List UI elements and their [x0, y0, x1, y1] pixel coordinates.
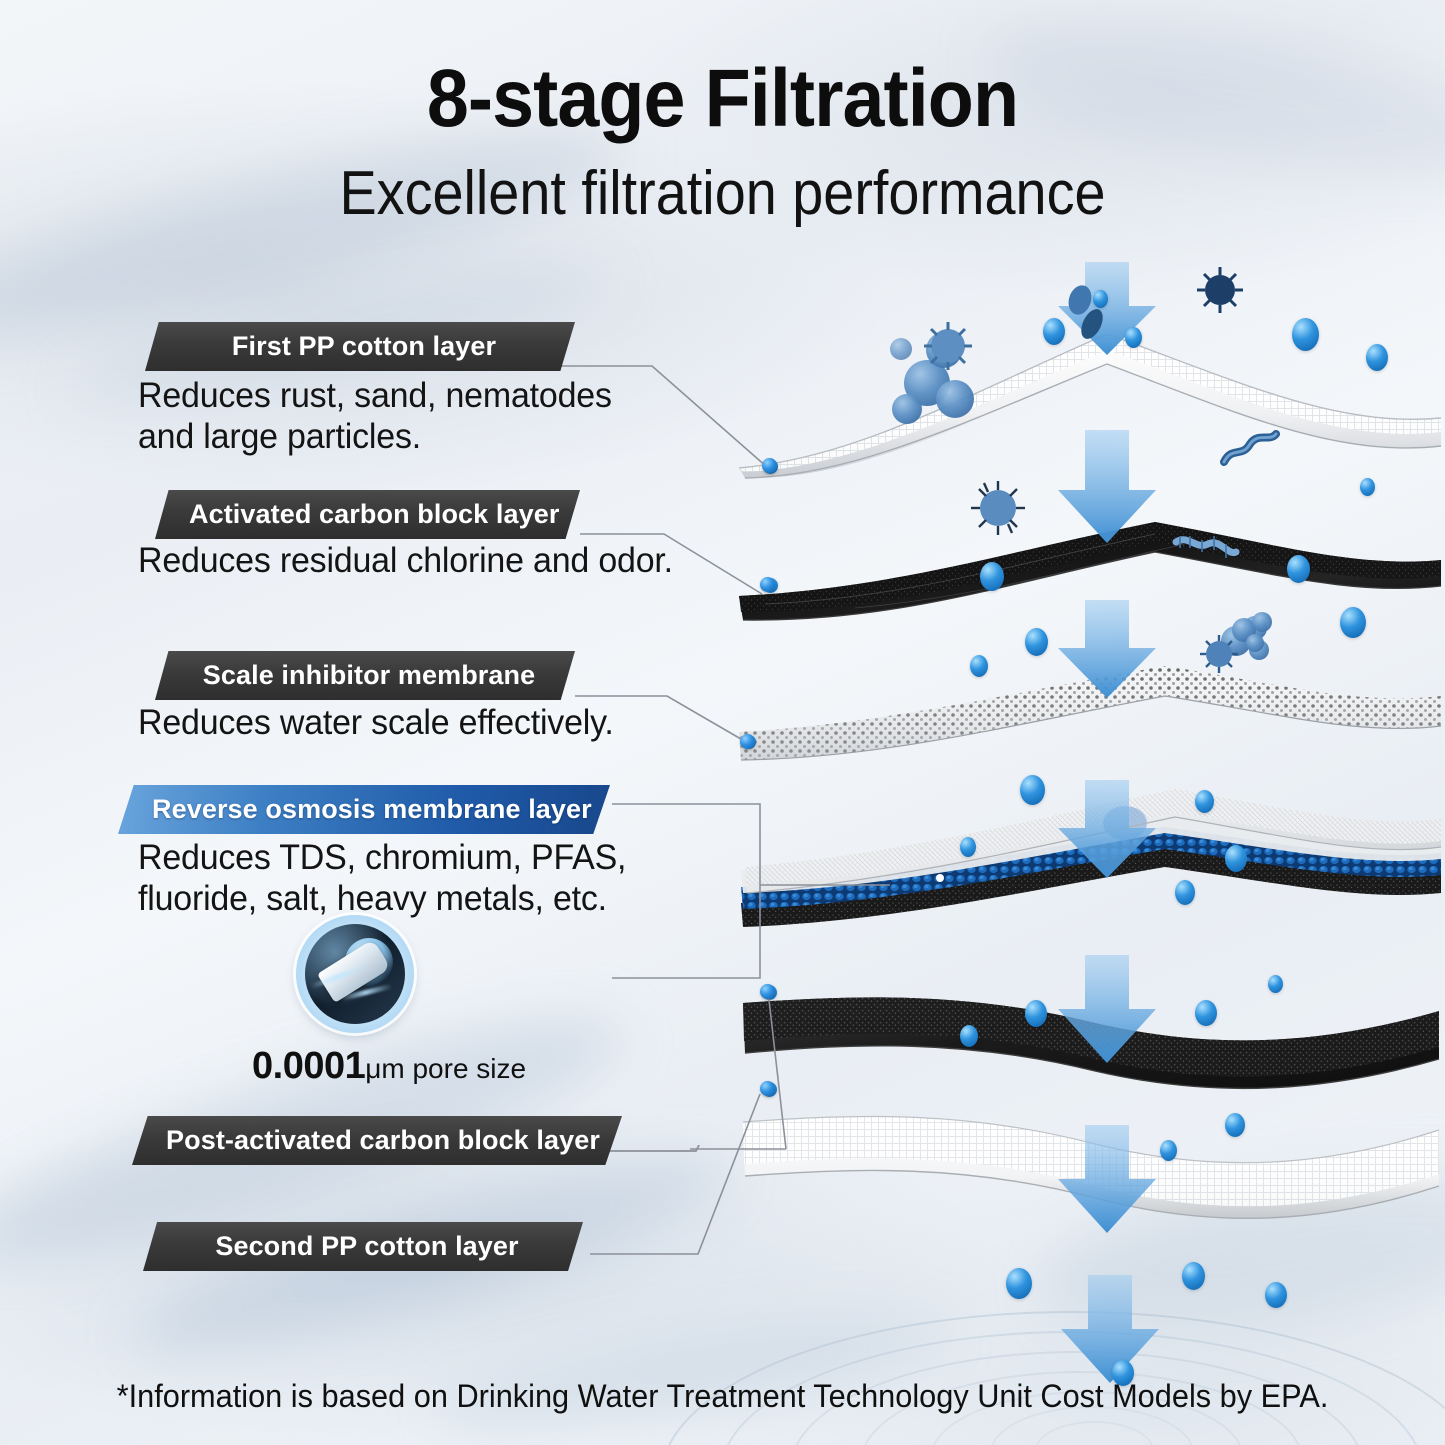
water-droplet-icon	[1006, 1268, 1032, 1299]
water-droplet-icon	[1225, 845, 1247, 872]
water-droplet-icon	[1125, 327, 1142, 348]
stage-banner-first-pp-cotton[interactable]: First PP cotton layer	[145, 322, 575, 371]
water-droplet-icon	[1160, 1140, 1177, 1161]
layer-illustration-scale-inhibitor-membrane	[735, 650, 1445, 780]
stage-description-scale-inhibitor-membrane: Reduces water scale effectively.	[138, 702, 681, 743]
water-droplet-icon	[1195, 1000, 1217, 1026]
footnote-text: *Information is based on Drinking Water …	[29, 1378, 1416, 1415]
stage-description-reverse-osmosis-membrane: Reduces TDS, chromium, PFAS, fluoride, s…	[138, 837, 701, 920]
stage-banner-post-activated-carbon-block[interactable]: Post-activated carbon block layer	[132, 1116, 622, 1165]
pore-size-label: 0.0001μm pore size	[252, 1045, 502, 1088]
water-droplet-icon	[1265, 1282, 1287, 1308]
page-subtitle: Excellent filtration performance	[72, 158, 1373, 229]
layer-illustration-reverse-osmosis-membrane	[735, 775, 1445, 945]
water-droplet-icon	[1366, 344, 1388, 371]
water-droplet-icon	[1175, 880, 1195, 905]
water-droplet-icon	[1225, 1113, 1245, 1137]
water-droplet-icon	[1020, 775, 1045, 805]
water-droplet-icon	[1360, 478, 1375, 496]
water-droplet-icon	[1025, 628, 1048, 656]
water-droplet-icon	[980, 562, 1004, 591]
microbe-icon	[1192, 262, 1248, 318]
down-arrow-icon	[1055, 1275, 1165, 1385]
microbe-icon	[880, 308, 1010, 438]
water-droplet-icon	[1268, 975, 1283, 993]
microbe-icon	[1220, 428, 1280, 472]
microbe-icon	[1228, 612, 1288, 667]
layer-illustration-second-pp-cotton	[735, 1070, 1445, 1270]
pore-size-value: 0.0001	[252, 1045, 365, 1087]
infographic-canvas: 8-stage Filtration Excellent filtration …	[0, 0, 1445, 1445]
microbe-icon	[1060, 282, 1108, 342]
connector-endpoint-dot	[740, 734, 755, 749]
water-droplet-icon	[960, 1025, 978, 1047]
water-droplet-icon	[1292, 318, 1319, 351]
layer-illustration-activated-carbon-block	[735, 500, 1445, 630]
stage-description-activated-carbon-block: Reduces residual chlorine and odor.	[138, 540, 681, 581]
stage-banner-second-pp-cotton[interactable]: Second PP cotton layer	[143, 1222, 583, 1271]
ro-membrane-icon	[296, 915, 414, 1033]
water-droplet-icon	[970, 655, 988, 677]
stage-banner-scale-inhibitor-membrane[interactable]: Scale inhibitor membrane	[155, 651, 575, 700]
connector-endpoint-dot	[762, 458, 777, 473]
water-droplet-icon	[1182, 1262, 1205, 1290]
microbe-icon	[965, 475, 1031, 541]
water-droplet-icon	[1340, 607, 1366, 638]
water-droplet-icon	[1287, 555, 1310, 583]
page-title: 8-stage Filtration	[58, 52, 1387, 146]
microbe-icon	[1170, 530, 1240, 580]
connector-endpoint-dot	[760, 1081, 775, 1096]
water-droplet-icon	[1195, 790, 1214, 813]
pore-size-unit: μm pore size	[365, 1053, 526, 1084]
connector-endpoint-dot	[760, 984, 775, 999]
connector-endpoint-dot	[760, 577, 775, 592]
stage-banner-reverse-osmosis-membrane[interactable]: Reverse osmosis membrane layer	[118, 785, 610, 834]
stage-description-first-pp-cotton: Reduces rust, sand, nematodes and large …	[138, 375, 642, 458]
water-droplet-icon	[960, 837, 976, 857]
water-droplet-icon	[1025, 1000, 1047, 1027]
stage-banner-activated-carbon-block[interactable]: Activated carbon block layer	[155, 490, 580, 539]
